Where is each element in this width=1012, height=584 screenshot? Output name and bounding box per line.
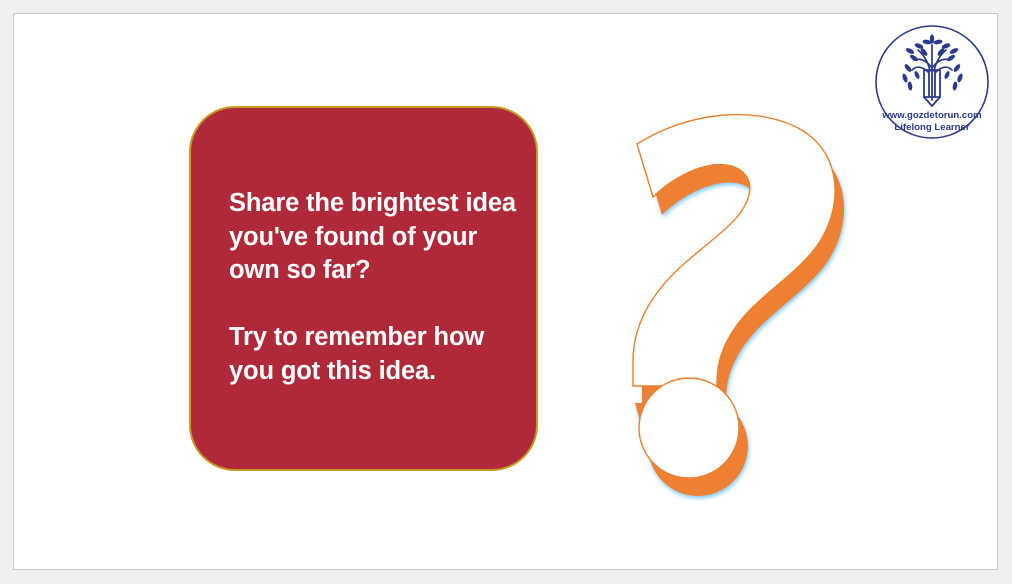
paragraph-spacer [229,288,529,322]
prompt-callout-card: Share the brightest idea you've found of… [189,106,538,471]
prompt-line: you've found of your [229,221,529,255]
question-mark-icon [600,101,870,501]
prompt-paragraph-2: Try to remember how you got this idea. [229,321,529,388]
prompt-line: own so far? [229,254,529,288]
logo-tagline: Lifelong Learner [894,122,969,133]
brand-logo: www.gozdetorun.com Lifelong Learner [872,22,992,142]
prompt-line: Try to remember how [229,321,529,355]
prompt-line: Share the brightest idea [229,187,529,221]
slide-canvas: Share the brightest idea you've found of… [13,13,998,570]
prompt-text-block: Share the brightest idea you've found of… [229,187,529,388]
slide-root: Share the brightest idea you've found of… [0,0,1012,584]
prompt-paragraph-1: Share the brightest idea you've found of… [229,187,529,288]
logo-website: www.gozdetorun.com [881,110,981,121]
prompt-line: you got this idea. [229,355,529,389]
